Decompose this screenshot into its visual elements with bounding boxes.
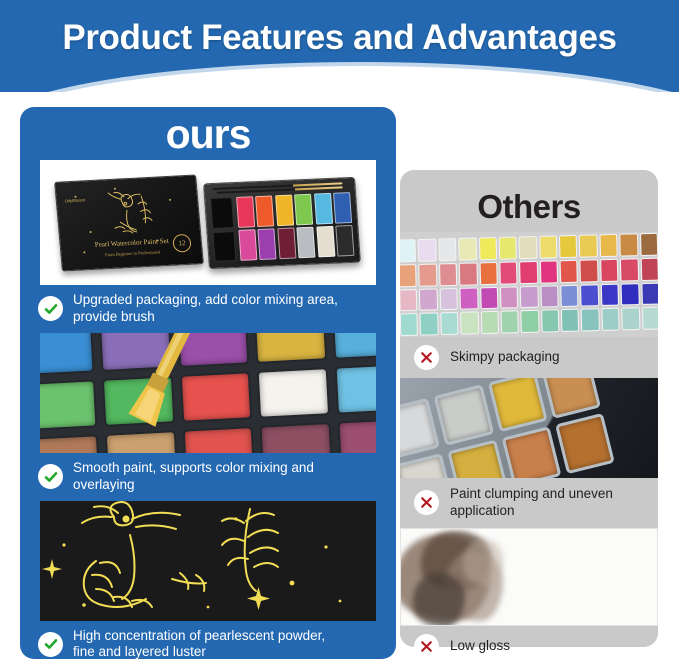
paint-pan [400,288,418,311]
paint-pan [260,422,333,453]
paint-pan [480,286,499,309]
gift-box: OrlyBlossm Pearl Watercolor Paint Set Fr… [54,174,204,271]
paint-pan [400,264,417,287]
page-header: Product Features and Advantages [0,0,679,92]
paint-pan [335,225,354,256]
ours-panel-body: OrlyBlossm Pearl Watercolor Paint Set Fr… [20,160,396,668]
paint-pan [641,282,658,305]
paint-pan [440,312,459,335]
paint-pan [487,378,547,432]
paint-pan [255,195,274,226]
ours-panel: ours OrlyBlossm [20,107,396,659]
paint-pan [400,239,416,262]
feature-item-2: Smooth paint, supports color mixing and … [20,453,396,501]
paint-pan [238,229,257,260]
paint-pan [254,333,327,363]
pastel-pan-grid [400,233,658,336]
wash-blob [463,539,503,585]
paint-pan [501,426,561,478]
deer-line-art-icon [98,189,160,240]
paint-pan [438,238,457,261]
paint-pan [621,283,640,306]
paint-pan [599,234,618,257]
paint-pan [439,287,458,310]
paint-pan [601,283,620,306]
paint-pan [257,367,330,419]
others-panel-body: Skimpy packaging Paint clumping and unev… [400,232,658,667]
paint-pan [460,287,479,310]
paint-pan [601,308,620,331]
paint-pan [334,362,376,414]
paint-pan [541,378,601,419]
paint-pan [560,260,579,283]
box-brand-label: OrlyBlossm [65,197,86,203]
paint-pan [500,311,519,334]
page-title: Product Features and Advantages [0,18,679,58]
paint-pan [480,311,499,334]
paint-pan-grid [236,192,354,261]
check-circle-icon [38,296,63,321]
paint-pan [561,309,580,332]
paint-pan [400,398,440,459]
paint-pan [478,237,497,260]
feature-text-2: Smooth paint, supports color mixing and … [73,460,343,494]
paint-pan [182,426,255,453]
gift-box-and-palette-photo: OrlyBlossm Pearl Watercolor Paint Set Fr… [40,160,376,285]
paint-pan [434,384,494,445]
paint-pan [560,284,579,307]
drawback-item-1: Skimpy packaging [400,337,658,378]
others-panel-title: Others [400,188,658,226]
drawback-item-2: Paint clumping and uneven application [400,478,658,528]
cross-circle-icon [414,490,439,515]
paint-pan [619,233,638,256]
paint-pan [400,453,454,478]
paint-pan [620,258,639,281]
paint-pan [519,236,538,259]
paint-pan [459,262,478,285]
paint-pan [337,418,376,453]
paint-pan [540,285,559,308]
check-circle-icon [38,632,63,657]
clumpy-pan-grid [400,378,615,478]
feature-item-3: High concentration of pearlescent powder… [20,621,396,668]
mixing-well [212,230,236,261]
paint-pan [277,227,296,258]
feature-text-1: Upgraded packaging, add color mixing are… [73,292,343,326]
paint-pan [499,236,518,259]
paint-pan [539,260,558,283]
paint-pan [448,440,508,478]
paint-pan [581,308,600,331]
drawback-text-3: Low gloss [450,638,510,655]
drawback-item-3: Low gloss [400,626,658,667]
paint-pan [314,192,333,223]
paint-pan [640,257,658,280]
paint-pan [439,263,458,286]
mixing-wells [210,197,236,262]
paint-pan [640,233,658,256]
paint-pan [275,194,294,225]
paint-pan [479,262,498,285]
paint-pan [40,379,98,431]
paint-pan [294,193,313,224]
paint-pan [600,259,619,282]
paint-pan [539,235,558,258]
feature-text-3: High concentration of pearlescent powder… [73,628,343,662]
paint-pan [519,261,538,284]
paint-pan [331,333,376,359]
header-wave [0,66,679,92]
paint-pan [580,284,599,307]
paint-pan [316,226,335,257]
paint-pan [579,234,598,257]
paint-pan [642,307,658,330]
paint-pan [418,239,437,262]
paint-pan [40,333,95,376]
paint-pan [419,263,438,286]
paint-pan [40,434,101,452]
cross-circle-icon [414,345,439,370]
paint-pan [559,235,578,258]
paint-pan [621,307,640,330]
large-pastel-palette-photo [400,232,658,337]
gold-line-art-photo [40,501,376,621]
paint-pan [297,226,316,257]
paint-pan [500,286,519,309]
paint-pan [333,192,352,223]
paint-pan [520,285,539,308]
paint-pan [541,309,560,332]
paint-pan [460,312,479,335]
feature-item-1: Upgraded packaging, add color mixing are… [20,285,396,333]
paint-pan [580,259,599,282]
dull-wash-painting-photo [400,528,658,626]
gold-artwork [40,501,376,621]
clumpy-metallic-paint-photo [400,378,658,478]
cross-circle-icon [414,634,439,659]
paint-pan [499,261,518,284]
paint-pan [521,310,540,333]
paint-pan [555,413,615,474]
paint-pan [400,313,418,336]
others-panel: Others Skimpy packaging Paint clump [400,170,658,647]
open-paint-tray [203,176,361,268]
paint-pan [458,238,477,261]
mixing-well [210,197,234,228]
drawback-text-1: Skimpy packaging [450,349,560,366]
paint-pan [236,196,255,227]
check-circle-icon [38,464,63,489]
wash-blob [413,573,465,626]
paint-pan [419,288,438,311]
paint-pan [258,228,277,259]
brush-on-palette-photo [40,333,376,453]
paint-pan [420,313,439,336]
drawback-text-2: Paint clumping and uneven application [450,486,630,520]
ours-panel-title: ours [20,114,396,155]
